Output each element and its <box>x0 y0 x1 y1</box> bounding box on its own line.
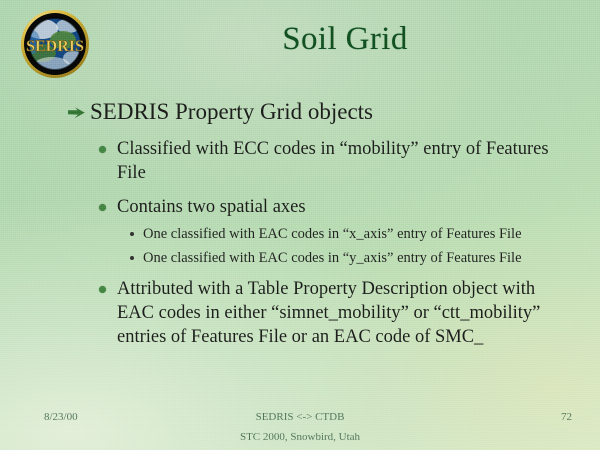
bullet-classified-ecc: Classified with ECC codes in “mobility” … <box>0 137 600 185</box>
round-bullet-icon <box>99 286 106 293</box>
logo-wordmark: SEDRIS <box>26 38 84 55</box>
sedris-globe-logo: SEDRIS <box>16 9 94 79</box>
slide-body: SEDRIS Property Grid objects Classified … <box>0 98 600 350</box>
slide-canvas: SEDRIS Soil Grid SEDRIS Property Grid ob… <box>0 0 600 450</box>
small-dot-bullet-icon <box>130 256 134 260</box>
bullet-text: Classified with ECC codes in “mobility” … <box>117 139 549 183</box>
bullet-text: Attributed with a Table Property Descrip… <box>117 279 540 347</box>
bullet-level1-text: SEDRIS Property Grid objects <box>90 99 373 124</box>
slide-footer: 8/23/00 SEDRIS <-> CTDB 72 <box>0 410 600 424</box>
bullet-x-axis: One classified with EAC codes in “x_axis… <box>0 225 600 244</box>
arrow-marker-icon <box>68 107 85 119</box>
page-title: Soil Grid <box>110 19 580 59</box>
round-bullet-icon <box>99 204 106 211</box>
bullet-text: One classified with EAC codes in “y_axis… <box>143 250 522 266</box>
bullet-two-spatial-axes: Contains two spatial axes <box>0 195 600 219</box>
bullet-y-axis: One classified with EAC codes in “y_axis… <box>0 249 600 268</box>
footer-center-text: SEDRIS <-> CTDB <box>0 410 600 424</box>
small-dot-bullet-icon <box>130 232 134 236</box>
spacer <box>0 186 600 195</box>
bullet-level1: SEDRIS Property Grid objects <box>0 98 600 126</box>
bullet-text: One classified with EAC codes in “x_axis… <box>143 226 522 242</box>
footer-subtitle: STC 2000, Snowbird, Utah <box>0 430 600 444</box>
bullet-text: Contains two spatial axes <box>117 197 306 217</box>
round-bullet-icon <box>99 146 106 153</box>
spacer <box>0 268 600 277</box>
bullet-table-property-description: Attributed with a Table Property Descrip… <box>0 277 600 349</box>
footer-page-number: 72 <box>561 410 572 424</box>
